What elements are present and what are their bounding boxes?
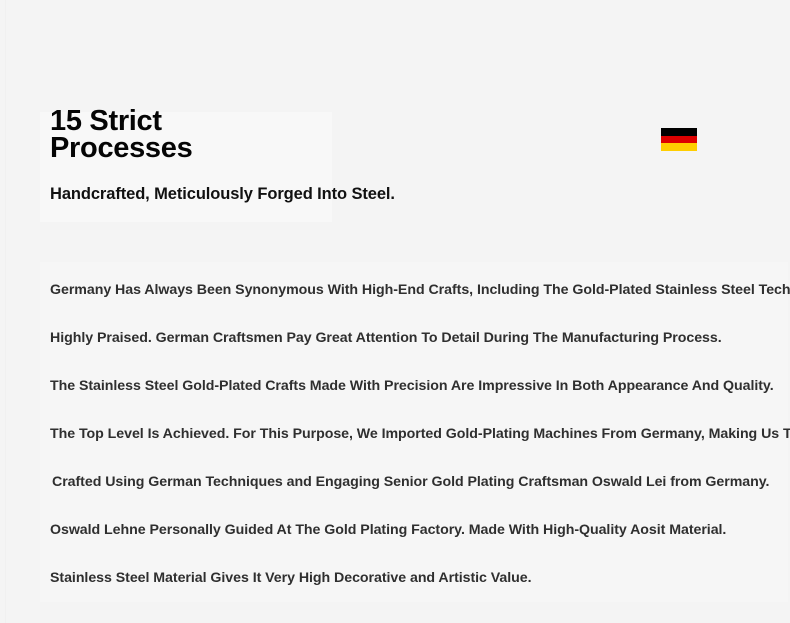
page-title: 15 Strict Processes bbox=[50, 108, 290, 162]
germany-flag-icon bbox=[661, 128, 697, 151]
body-line: Germany Has Always Been Synonymous With … bbox=[50, 282, 790, 330]
hero-section: 15 Strict Processes Handcrafted, Meticul… bbox=[50, 108, 670, 204]
body-line: Highly Praised. German Craftsmen Pay Gre… bbox=[50, 330, 790, 378]
page-left-rule bbox=[5, 0, 6, 623]
body-line: Crafted Using German Techniques and Enga… bbox=[50, 474, 790, 522]
flag-stripe-black bbox=[661, 128, 697, 136]
body-line: The Stainless Steel Gold-Plated Crafts M… bbox=[50, 378, 790, 426]
body-line: The Top Level Is Achieved. For This Purp… bbox=[50, 426, 790, 474]
body-line: Stainless Steel Material Gives It Very H… bbox=[50, 570, 790, 618]
body-line: Oswald Lehne Personally Guided At The Go… bbox=[50, 522, 790, 570]
page-subtitle: Handcrafted, Meticulously Forged Into St… bbox=[50, 162, 670, 204]
flag-stripe-gold bbox=[661, 143, 697, 151]
product-detail-page: 15 Strict Processes Handcrafted, Meticul… bbox=[0, 0, 790, 623]
flag-stripe-red bbox=[661, 136, 697, 144]
body-copy: Germany Has Always Been Synonymous With … bbox=[50, 282, 790, 618]
